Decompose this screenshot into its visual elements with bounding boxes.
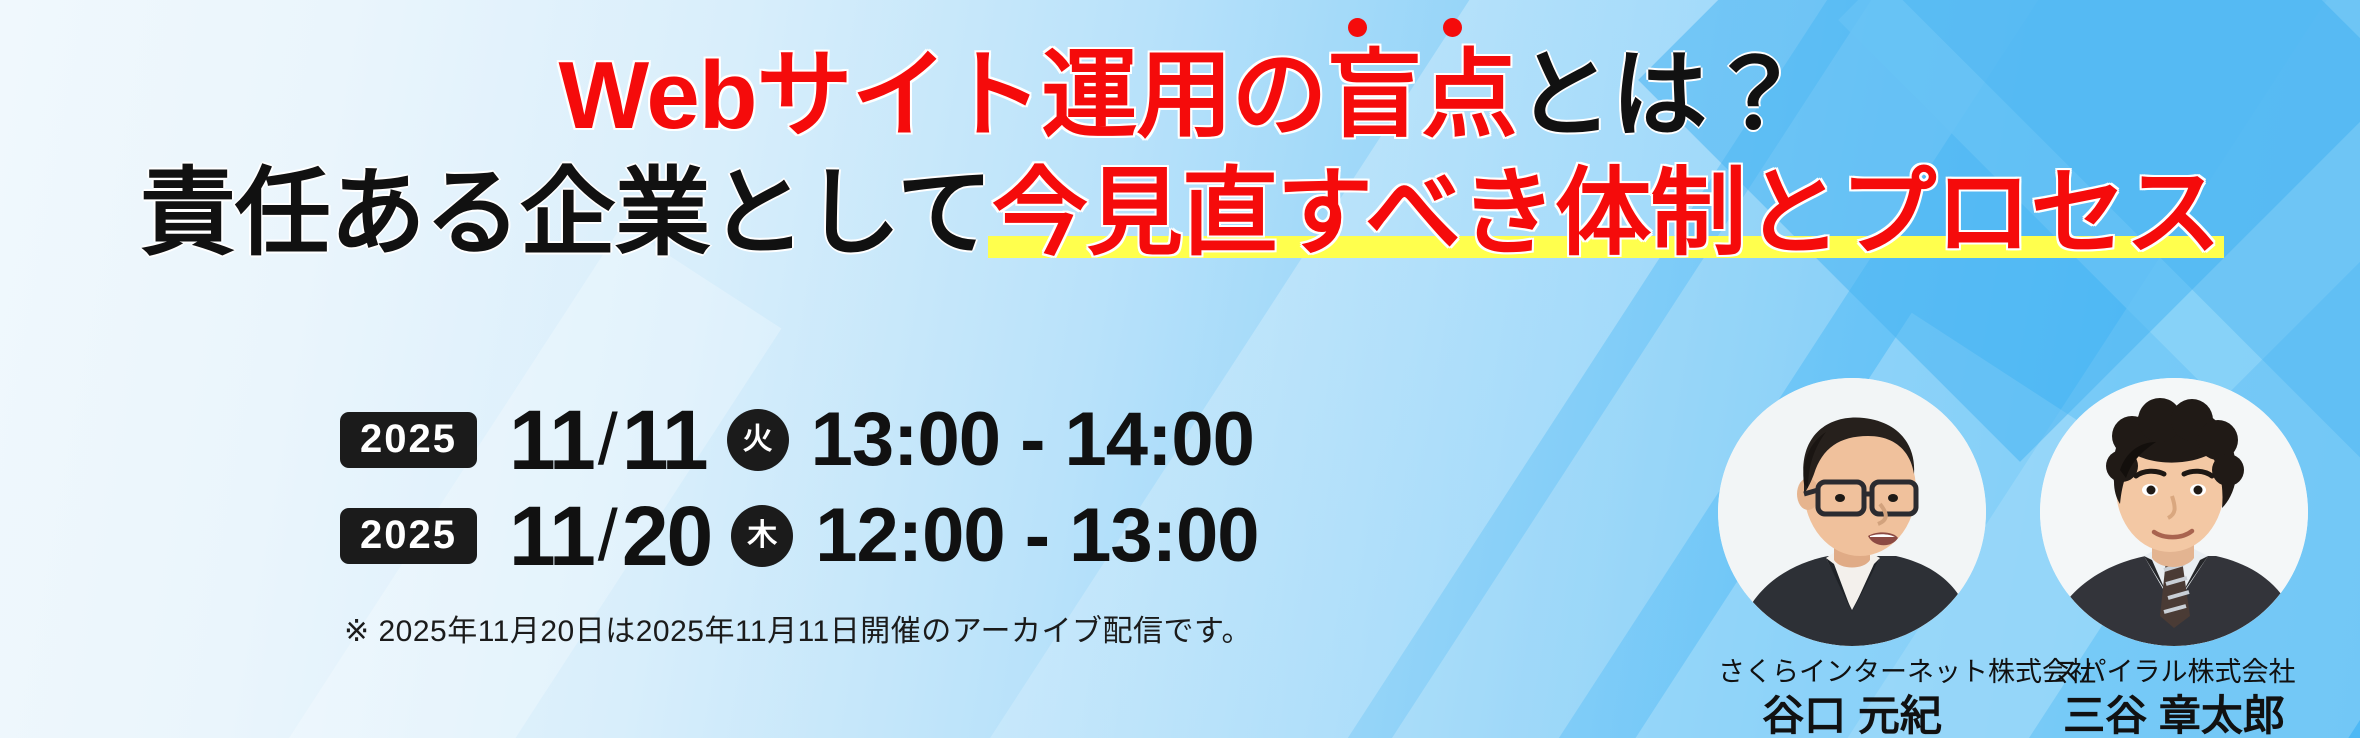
event-time-range: 13:00 - 14:00 [811,402,1254,478]
speaker-card: さくらインターネット株式会社 谷口 元紀 [1718,378,1986,738]
date-separator: / [598,500,618,572]
banner-title: Webサイト運用の盲点とは？ 責任ある企業として今見直すべき体制とプロセス [0,48,2360,262]
archive-note: ※ 2025年11月20日は2025年11月11日開催のアーカイブ配信です。 [344,606,1259,650]
event-time-range: 12:00 - 13:00 [815,498,1258,574]
speaker-card: スパイラル株式会社 三谷 章太郎 [2040,378,2308,738]
event-month: 11 [509,398,594,482]
event-month: 11 [509,494,594,578]
speaker-name: 谷口 元紀 [1718,692,1986,738]
event-day: 11 [622,398,707,482]
schedule-block: 2025 11 / 11 火 13:00 - 14:00 2025 11 / 2… [340,392,1259,650]
title-line2-highlighted-phrase: 今見直すべき体制とプロセス [992,166,2220,262]
year-badge: 2025 [340,412,477,468]
webinar-banner: Webサイト運用の盲点とは？ 責任ある企業として今見直すべき体制とプロセス 20… [0,0,2360,738]
title-line1-black-suffix: とは？ [1516,42,1801,149]
day-of-week-badge: 火 [727,409,789,471]
title-line1-red-prefix: Webサイト運用の [559,42,1327,149]
schedule-row: 2025 11 / 20 木 12:00 - 13:00 [340,488,1259,584]
speaker-company: スパイラル株式会社 [2040,656,2308,688]
day-of-week-badge: 木 [731,505,793,567]
schedule-row: 2025 11 / 11 火 13:00 - 14:00 [340,392,1259,488]
year-badge: 2025 [340,508,477,564]
speaker-company: さくらインターネット株式会社 [1718,656,1986,688]
speaker-name: 三谷 章太郎 [2040,692,2308,738]
event-day: 20 [622,494,711,578]
title-line-1: Webサイト運用の盲点とは？ [0,48,2360,144]
title-line2-black-prefix: 責任ある企業として [140,160,992,267]
speaker-portrait-glasses [1718,378,1986,646]
title-line-2: 責任ある企業として今見直すべき体制とプロセス [0,166,2360,262]
speaker-portrait-curly-hair [2040,378,2308,646]
speakers-block: さくらインターネット株式会社 谷口 元紀 [1718,378,2308,738]
date-separator: / [598,404,618,476]
title-line1-emphasis-word: 盲点 [1326,48,1516,144]
